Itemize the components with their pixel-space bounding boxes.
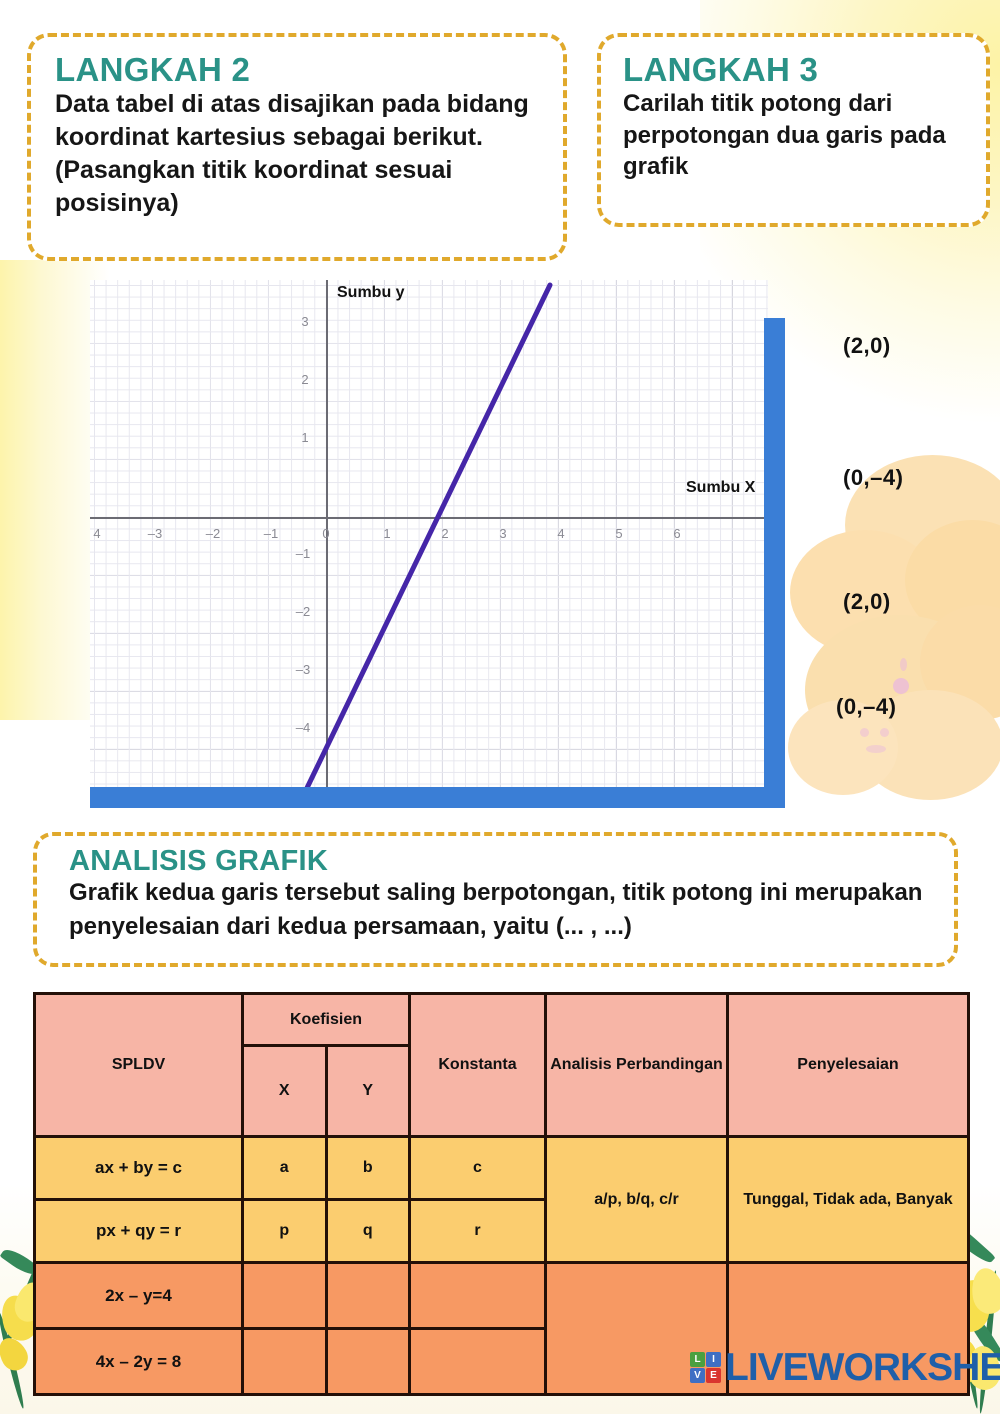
- header-koefisien: Koefisien: [243, 994, 410, 1046]
- logo-letter-l: L: [690, 1352, 705, 1367]
- watermark-text: LIVEWORKSHEETS: [725, 1352, 1000, 1383]
- spldv-table: SPLDV Koefisien Konstanta Analisis Perba…: [33, 992, 970, 1396]
- liveworksheets-logo-icon: L I V E: [690, 1352, 721, 1383]
- coord-token-1[interactable]: (2,0): [843, 333, 891, 359]
- cell-analisis: a/p, b/q, c/r: [546, 1137, 728, 1263]
- cell-koef-x: a: [243, 1137, 327, 1200]
- plotted-line: [90, 280, 768, 800]
- liveworksheets-watermark: L I V E LIVEWORKSHEETS: [690, 1352, 1000, 1383]
- cell-spldv: px + qy = r: [35, 1200, 243, 1263]
- cell-spldv: ax + by = c: [35, 1137, 243, 1200]
- header-analisis: Analisis Perbandingan: [546, 994, 728, 1137]
- step-body: Data tabel di atas disajikan pada bidang…: [55, 88, 541, 221]
- step-card-langkah-2: LANGKAH 2 Data tabel di atas disajikan p…: [27, 33, 567, 261]
- logo-letter-v: V: [690, 1368, 705, 1383]
- header-koef-x: X: [243, 1046, 327, 1137]
- cloud-shape: [920, 605, 1000, 720]
- analysis-body: Grafik kedua garis tersebut saling berpo…: [69, 876, 934, 942]
- header-koef-y: Y: [326, 1046, 410, 1137]
- step-title: LANGKAH 3: [623, 53, 968, 88]
- header-penyelesaian: Penyelesaian: [728, 994, 969, 1137]
- cartesian-graph: Sumbu y Sumbu X 4 –3 –2 –1 0 1 2 3 4 5 6…: [90, 280, 785, 817]
- analysis-card: ANALISIS GRAFIK Grafik kedua garis terse…: [33, 832, 958, 967]
- step-body: Carilah titik potong dari perpotongan du…: [623, 88, 968, 184]
- answer-cell-konstanta[interactable]: [410, 1263, 546, 1329]
- cell-konstanta: c: [410, 1137, 546, 1200]
- flower-stem: [0, 1311, 26, 1409]
- answer-cell-koef-y[interactable]: [326, 1329, 410, 1395]
- answer-cell-koef-x[interactable]: [243, 1263, 327, 1329]
- answer-cell-konstanta[interactable]: [410, 1329, 546, 1395]
- cell-spldv: 4x – 2y = 8: [35, 1329, 243, 1395]
- table-row: 2x – y=4: [35, 1263, 969, 1329]
- answer-cell-koef-y[interactable]: [326, 1263, 410, 1329]
- coord-token-4[interactable]: (0,–4): [836, 694, 896, 720]
- cloud-shape: [805, 615, 995, 765]
- header-spldv: SPLDV: [35, 994, 243, 1137]
- coord-token-3[interactable]: (2,0): [843, 589, 891, 615]
- flower-petal: [0, 1333, 33, 1375]
- pink-dot: [880, 728, 889, 737]
- logo-letter-i: I: [706, 1352, 721, 1367]
- header-konstanta: Konstanta: [410, 994, 546, 1137]
- cell-koef-y: q: [326, 1200, 410, 1263]
- cell-spldv: 2x – y=4: [35, 1263, 243, 1329]
- table-header-row: SPLDV Koefisien Konstanta Analisis Perba…: [35, 994, 969, 1046]
- cloud-shape: [905, 520, 1000, 640]
- step-title: LANGKAH 2: [55, 53, 541, 88]
- pink-dot: [893, 678, 909, 694]
- pink-dot: [900, 658, 907, 671]
- flower-stem: [977, 1270, 998, 1414]
- cell-konstanta: r: [410, 1200, 546, 1263]
- cell-koef-x: p: [243, 1200, 327, 1263]
- pink-dot: [860, 728, 869, 737]
- cell-koef-y: b: [326, 1137, 410, 1200]
- graph-frame-bottom: [90, 787, 785, 808]
- coord-token-2[interactable]: (0,–4): [843, 465, 903, 491]
- flower-petal: [968, 1266, 1000, 1317]
- analysis-title: ANALISIS GRAFIK: [69, 846, 934, 876]
- logo-letter-e: E: [706, 1368, 721, 1383]
- graph-frame-right: [764, 318, 785, 808]
- table-row: ax + by = c a b c a/p, b/q, c/r Tunggal,…: [35, 1137, 969, 1200]
- cell-penyelesaian: Tunggal, Tidak ada, Banyak: [728, 1137, 969, 1263]
- pink-dot: [866, 745, 886, 753]
- step-card-langkah-3: LANGKAH 3 Carilah titik potong dari perp…: [597, 33, 990, 227]
- answer-cell-koef-x[interactable]: [243, 1329, 327, 1395]
